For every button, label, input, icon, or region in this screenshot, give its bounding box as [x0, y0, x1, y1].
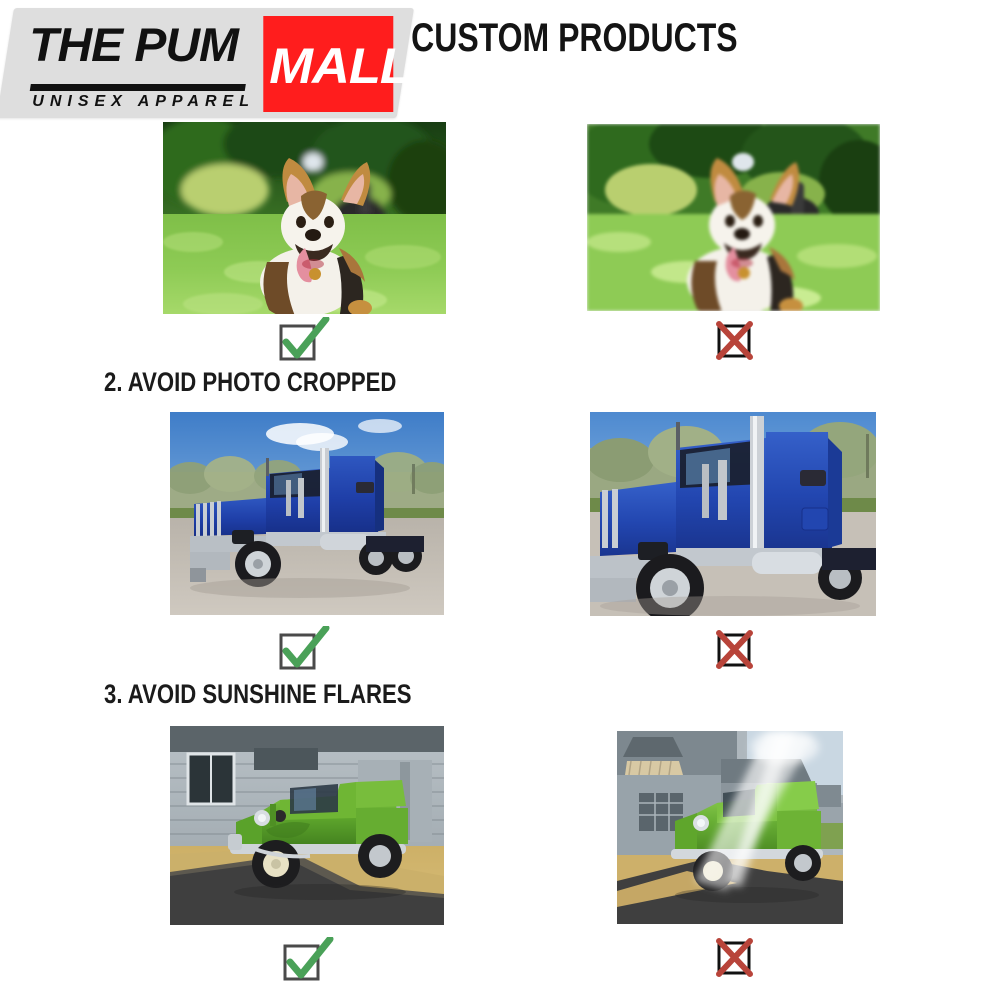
- section-heading-2: 2. AVOID PHOTO CROPPED: [104, 367, 396, 398]
- photo-semi-truck-cropped: [590, 412, 876, 616]
- photo-pickup-sunflare: [617, 731, 843, 924]
- brand-logo: THE PUM UNISEX APPAREL MALL: [0, 8, 414, 118]
- photo-corgi-good: [163, 122, 446, 314]
- logo-divider-rule: [30, 84, 246, 91]
- verdict-cross-row1: [713, 320, 755, 362]
- verdict-cross-row3: [713, 937, 755, 979]
- section-heading-3: 3. AVOID SUNSHINE FLARES: [104, 679, 412, 710]
- logo-accent-word: MALL: [269, 41, 397, 91]
- logo-primary-word: THE PUM: [29, 21, 238, 68]
- verdict-cross-row2: [713, 629, 755, 671]
- logo-tagline: UNISEX APPAREL: [32, 94, 255, 110]
- photo-pickup-good: [170, 726, 444, 925]
- verdict-check-row2: [276, 626, 332, 672]
- verdict-check-row1: [276, 317, 332, 363]
- photo-semi-truck-good: [170, 412, 444, 615]
- verdict-check-row3: [280, 937, 336, 983]
- photo-corgi-bad: [587, 124, 880, 311]
